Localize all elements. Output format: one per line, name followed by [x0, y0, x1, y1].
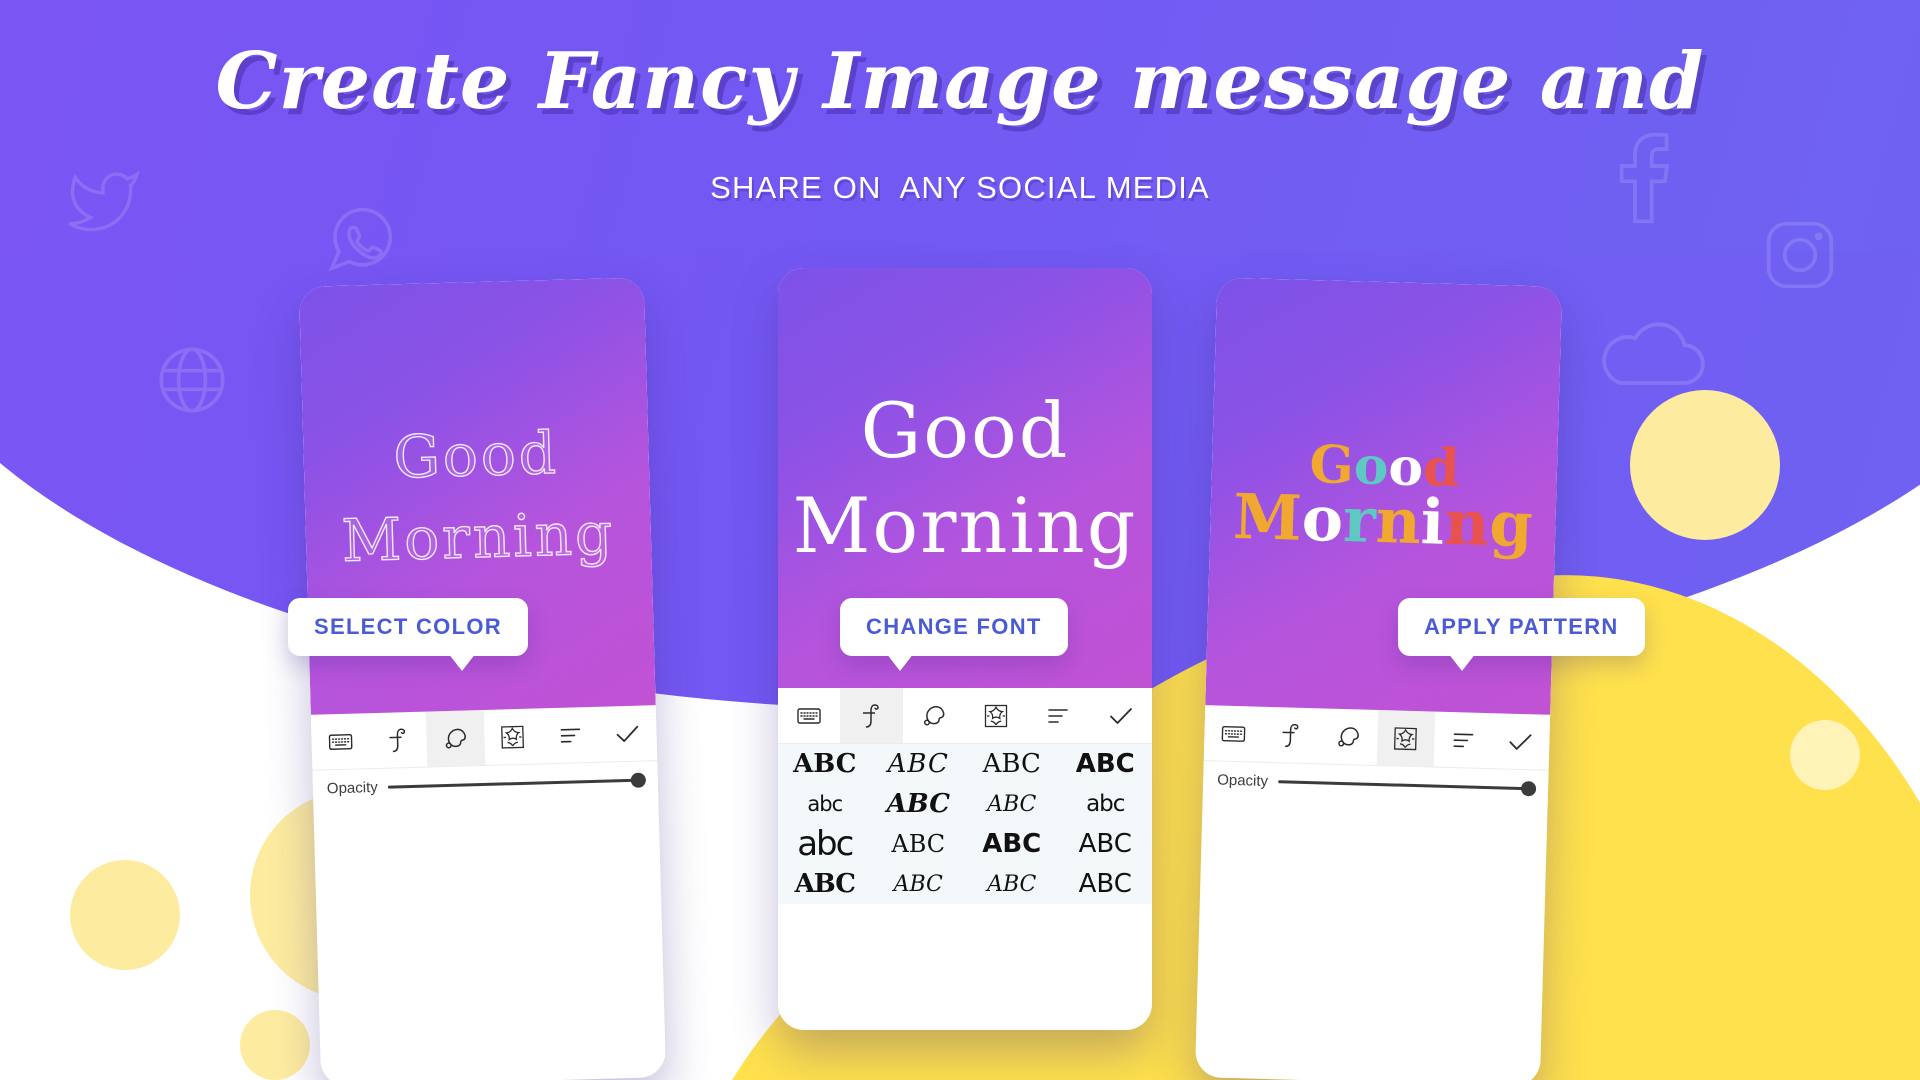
- colorful-letter: g: [1489, 492, 1534, 556]
- toolbar-font-icon[interactable]: [368, 712, 427, 769]
- font-icon: [860, 703, 882, 729]
- page-title: Create Fancy Image message and: [0, 36, 1920, 127]
- callout-apply-pattern: APPLY PATTERN: [1398, 598, 1645, 656]
- pattern-icon: [984, 704, 1008, 728]
- font-option[interactable]: ABC: [778, 864, 872, 904]
- opacity-control[interactable]: Opacity: [1203, 761, 1549, 810]
- font-option[interactable]: ABC: [965, 824, 1059, 864]
- phone-mockup-apply-pattern: Good Morning Opacity: [1195, 277, 1562, 1080]
- opacity-label: Opacity: [1217, 772, 1268, 790]
- check-icon: [614, 722, 641, 745]
- editor-panel-patterns: Opacity: [1203, 705, 1551, 810]
- editor-toolbar: [311, 705, 657, 771]
- slider-track: [1278, 780, 1536, 790]
- slider-track: [388, 778, 646, 788]
- decorative-circle: [70, 860, 180, 970]
- check-icon: [1108, 705, 1134, 727]
- colorful-letter: n: [1375, 489, 1422, 553]
- font-option[interactable]: abc: [778, 784, 872, 824]
- cloud-icon: [1590, 320, 1710, 390]
- font-picker-grid[interactable]: ABCABCABCABCabcABCABCabcabcABCABCABCABCA…: [778, 744, 1152, 904]
- align-icon: [1451, 730, 1476, 751]
- canvas-text-line1: Good: [392, 411, 560, 498]
- font-icon: [1279, 722, 1302, 749]
- font-option[interactable]: ABC: [965, 864, 1059, 904]
- canvas-text-line2: Morning: [1232, 485, 1533, 557]
- font-option[interactable]: abc: [1059, 784, 1153, 824]
- colorful-letter: i: [1420, 490, 1445, 554]
- font-option[interactable]: ABC: [872, 784, 966, 824]
- font-option[interactable]: ABC: [965, 744, 1059, 784]
- colorful-letter: n: [1444, 491, 1491, 555]
- slider-knob[interactable]: [1521, 781, 1536, 796]
- color-palette-icon: [442, 726, 469, 751]
- color-palette-icon: [921, 704, 947, 728]
- font-option[interactable]: ABC: [1059, 824, 1153, 864]
- toolbar-pattern-icon[interactable]: [483, 708, 542, 765]
- keyboard-icon: [797, 706, 821, 726]
- opacity-label: Opacity: [327, 779, 378, 797]
- callout-change-font: CHANGE FONT: [840, 598, 1068, 656]
- editor-panel-fonts: ABCABCABCABCabcABCABCabcabcABCABCABCABCA…: [778, 688, 1152, 904]
- toolbar-keyboard-icon[interactable]: [778, 688, 840, 743]
- canvas-text-line2: Morning: [341, 492, 617, 582]
- toolbar-align-icon[interactable]: [1027, 688, 1089, 743]
- align-icon: [1046, 706, 1070, 726]
- decorative-circle: [1630, 390, 1780, 540]
- editor-toolbar: [1204, 705, 1550, 771]
- toolbar-align-icon[interactable]: [541, 707, 600, 764]
- toolbar-keyboard-icon[interactable]: [1204, 705, 1263, 762]
- canvas-text-line2: Morning: [793, 478, 1138, 573]
- slider-knob[interactable]: [631, 772, 646, 787]
- toolbar-keyboard-icon[interactable]: [311, 713, 370, 770]
- check-icon: [1507, 730, 1534, 753]
- toolbar-color-palette-icon[interactable]: [903, 688, 965, 743]
- toolbar-check-icon[interactable]: [598, 705, 657, 762]
- colorful-letter: o: [1301, 487, 1344, 551]
- toolbar-pattern-icon[interactable]: [1376, 710, 1435, 767]
- toolbar-color-palette-icon[interactable]: [1319, 708, 1378, 765]
- toolbar-check-icon[interactable]: [1090, 688, 1152, 743]
- whatsapp-icon: [322, 200, 400, 278]
- font-option[interactable]: ABC: [965, 784, 1059, 824]
- keyboard-icon: [328, 731, 353, 752]
- toolbar-check-icon[interactable]: [1491, 713, 1550, 770]
- font-icon: [386, 727, 409, 754]
- editor-toolbar: [778, 688, 1152, 744]
- toolbar-color-palette-icon[interactable]: [426, 710, 485, 767]
- font-option[interactable]: ABC: [872, 744, 966, 784]
- page-subtitle: SHARE ON ANY SOCIAL MEDIA: [0, 170, 1920, 206]
- color-palette-icon: [1335, 724, 1362, 749]
- phone-mockup-select-color: Good Morning Opacity ✓: [299, 277, 666, 1080]
- opacity-slider[interactable]: [1278, 775, 1536, 796]
- colorful-letter: M: [1232, 485, 1302, 550]
- toolbar-font-icon[interactable]: [1261, 707, 1320, 764]
- callout-select-color: SELECT COLOR: [288, 598, 528, 656]
- decorative-circle: [240, 1010, 310, 1080]
- pattern-icon: [500, 724, 525, 749]
- font-option[interactable]: ABC: [872, 864, 966, 904]
- editor-panel-colors: Opacity ✓: [311, 705, 659, 810]
- font-option[interactable]: abc: [778, 824, 872, 864]
- font-option[interactable]: ABC: [1059, 864, 1153, 904]
- opacity-control[interactable]: Opacity: [312, 761, 658, 810]
- decorative-circle: [1790, 720, 1860, 790]
- colorful-letter: r: [1342, 488, 1376, 552]
- globe-icon: [152, 340, 232, 420]
- font-option[interactable]: ABC: [872, 824, 966, 864]
- toolbar-align-icon[interactable]: [1434, 712, 1493, 769]
- canvas-text-line1: Good: [861, 383, 1070, 478]
- align-icon: [558, 725, 583, 746]
- opacity-slider[interactable]: [388, 773, 646, 794]
- pattern-icon: [1393, 726, 1418, 751]
- keyboard-icon: [1221, 723, 1246, 744]
- font-option[interactable]: ABC: [1059, 744, 1153, 784]
- toolbar-font-icon[interactable]: [840, 688, 902, 743]
- font-option[interactable]: ABC: [778, 744, 872, 784]
- instagram-icon: [1760, 215, 1840, 295]
- toolbar-pattern-icon[interactable]: [965, 688, 1027, 743]
